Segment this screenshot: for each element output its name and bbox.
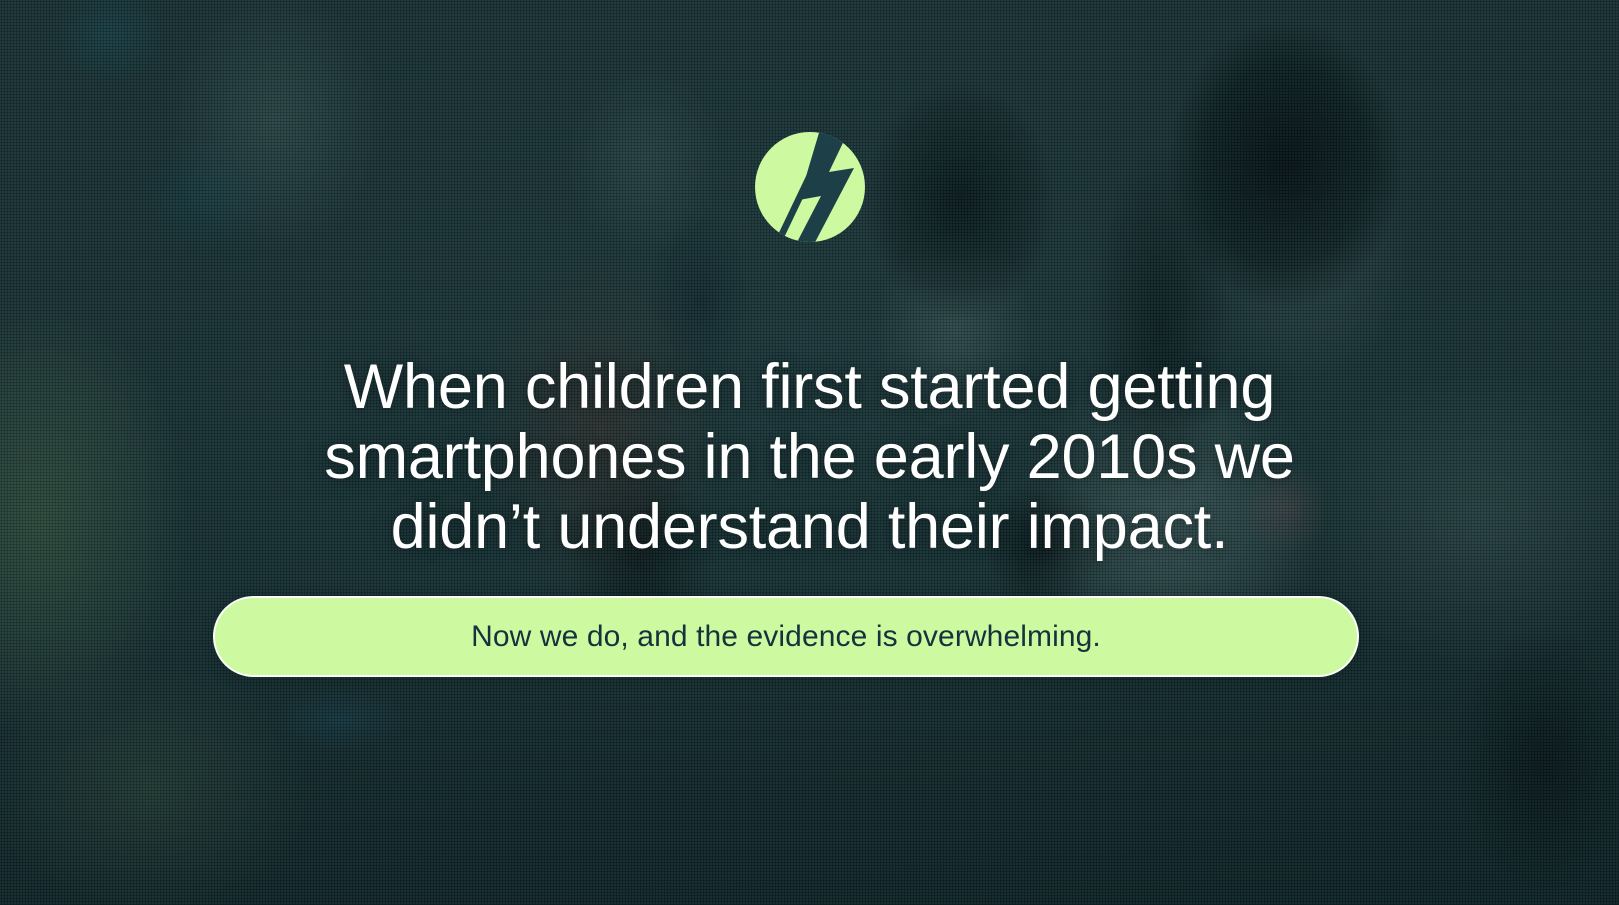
hero-section: When children first started getting smar… bbox=[0, 0, 1619, 905]
evidence-callout-label: Now we do, and the evidence is overwhelm… bbox=[471, 620, 1101, 654]
evidence-callout-pill[interactable]: Now we do, and the evidence is overwhelm… bbox=[213, 596, 1359, 677]
lightning-bolt-icon bbox=[755, 132, 865, 242]
hero-content: When children first started getting smar… bbox=[0, 0, 1619, 905]
page-title: When children first started getting smar… bbox=[260, 352, 1360, 562]
